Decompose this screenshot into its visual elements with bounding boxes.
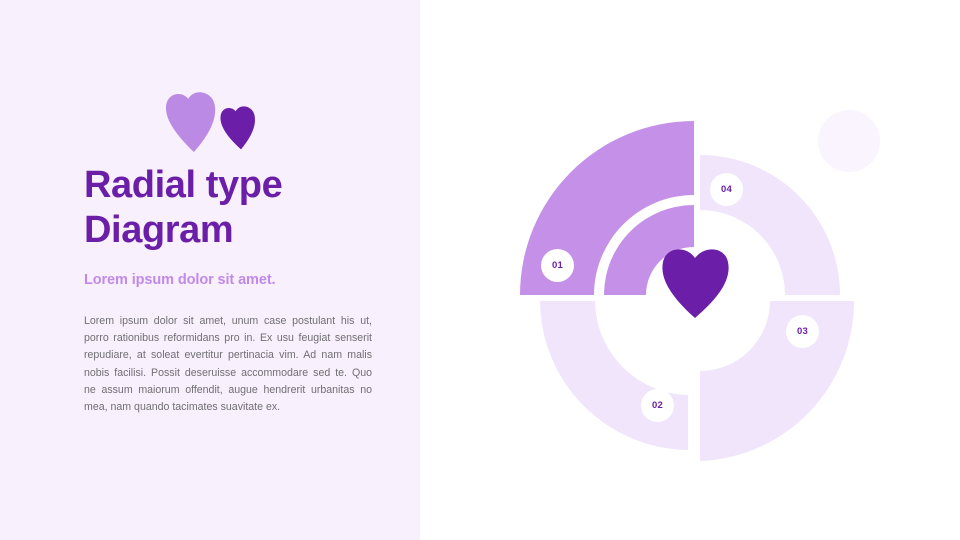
segment-02-arc[interactable] (540, 301, 688, 450)
segment-badge-04-label: 04 (721, 184, 732, 195)
body-paragraph: Lorem ipsum dolor sit amet, unum case po… (84, 313, 372, 416)
segment-badge-03[interactable]: 03 (786, 315, 819, 348)
decorative-circle (818, 110, 880, 172)
left-panel: Radial type Diagram Lorem ipsum dolor si… (0, 0, 420, 540)
title-line-2: Diagram (84, 208, 384, 253)
segment-badge-01[interactable]: 01 (541, 249, 574, 282)
radial-diagram (420, 0, 960, 540)
segment-badge-04[interactable]: 04 (710, 173, 743, 206)
segment-badge-02[interactable]: 02 (641, 389, 674, 422)
segment-badge-02-label: 02 (652, 400, 663, 411)
hearts-decoration (160, 84, 280, 160)
heart-large-icon (164, 90, 219, 154)
slide-canvas: Radial type Diagram Lorem ipsum dolor si… (0, 0, 960, 540)
subtitle: Lorem ipsum dolor sit amet. (84, 272, 404, 288)
diagram-panel: 01 02 03 04 (420, 0, 960, 540)
segment-badge-03-label: 03 (797, 326, 808, 337)
page-title: Radial type Diagram (84, 163, 384, 253)
heart-small-icon (219, 105, 259, 152)
title-line-1: Radial type (84, 163, 384, 208)
segment-badge-01-label: 01 (552, 260, 563, 271)
segment-03-arc[interactable] (700, 301, 854, 461)
center-heart-icon (662, 249, 728, 318)
